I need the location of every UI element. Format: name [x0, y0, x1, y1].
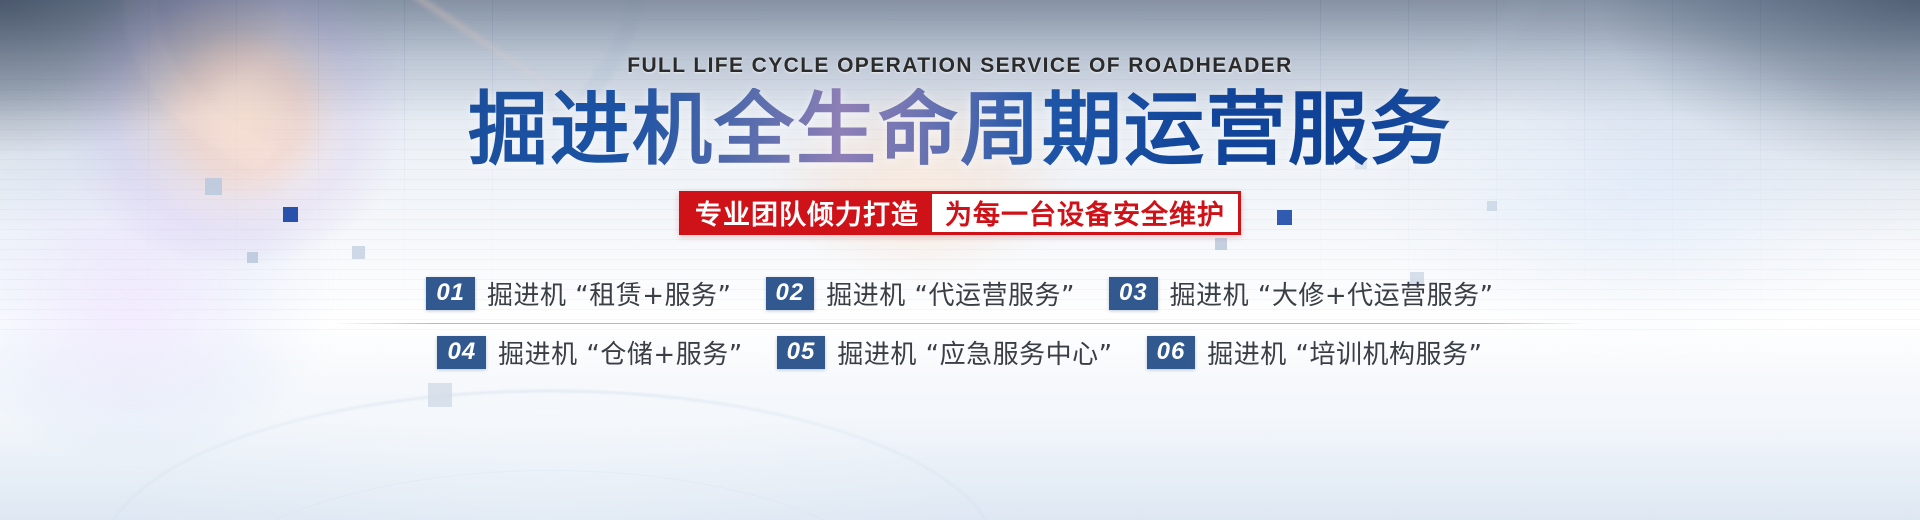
services-row-2: 04掘进机 “仓储+服务”05掘进机 “应急服务中心”06掘进机 “培训机构服务… [437, 324, 1482, 382]
english-subtitle: FULL LIFE CYCLE OPERATION SERVICE OF ROA… [627, 54, 1293, 78]
service-item-01[interactable]: 01掘进机 “租赁+服务” [426, 275, 731, 312]
service-item-05[interactable]: 05掘进机 “应急服务中心” [777, 334, 1113, 371]
services-list: 01掘进机 “租赁+服务”02掘进机 “代运营服务”03掘进机 “大修+代运营服… [315, 265, 1605, 382]
service-item-04[interactable]: 04掘进机 “仓储+服务” [437, 334, 742, 371]
service-number-badge: 06 [1147, 336, 1196, 369]
banner-content: FULL LIFE CYCLE OPERATION SERVICE OF ROA… [0, 0, 1920, 520]
service-label: 掘进机 “代运营服务” [826, 275, 1075, 312]
slogan-banner: 专业团队倾力打造 为每一台设备安全维护 [679, 191, 1241, 235]
services-row-1: 01掘进机 “租赁+服务”02掘进机 “代运营服务”03掘进机 “大修+代运营服… [426, 265, 1493, 323]
slogan-right-text: 为每一台设备安全维护 [932, 194, 1238, 232]
service-number-badge: 05 [777, 336, 826, 369]
service-label: 掘进机 “应急服务中心” [837, 334, 1112, 371]
banner-root: FULL LIFE CYCLE OPERATION SERVICE OF ROA… [0, 0, 1920, 520]
service-label: 掘进机 “培训机构服务” [1207, 334, 1482, 371]
service-number-badge: 03 [1109, 277, 1158, 310]
service-label: 掘进机 “仓储+服务” [498, 334, 743, 371]
service-item-06[interactable]: 06掘进机 “培训机构服务” [1147, 334, 1483, 371]
main-headline: 掘进机全生命周期运营服务 [468, 88, 1452, 173]
service-number-badge: 04 [437, 336, 486, 369]
service-label: 掘进机 “租赁+服务” [487, 275, 732, 312]
service-item-03[interactable]: 03掘进机 “大修+代运营服务” [1109, 275, 1494, 312]
service-item-02[interactable]: 02掘进机 “代运营服务” [766, 275, 1075, 312]
service-number-badge: 01 [426, 277, 475, 310]
slogan-left-text: 专业团队倾力打造 [682, 194, 932, 232]
service-label: 掘进机 “大修+代运营服务” [1170, 275, 1494, 312]
service-number-badge: 02 [766, 277, 815, 310]
